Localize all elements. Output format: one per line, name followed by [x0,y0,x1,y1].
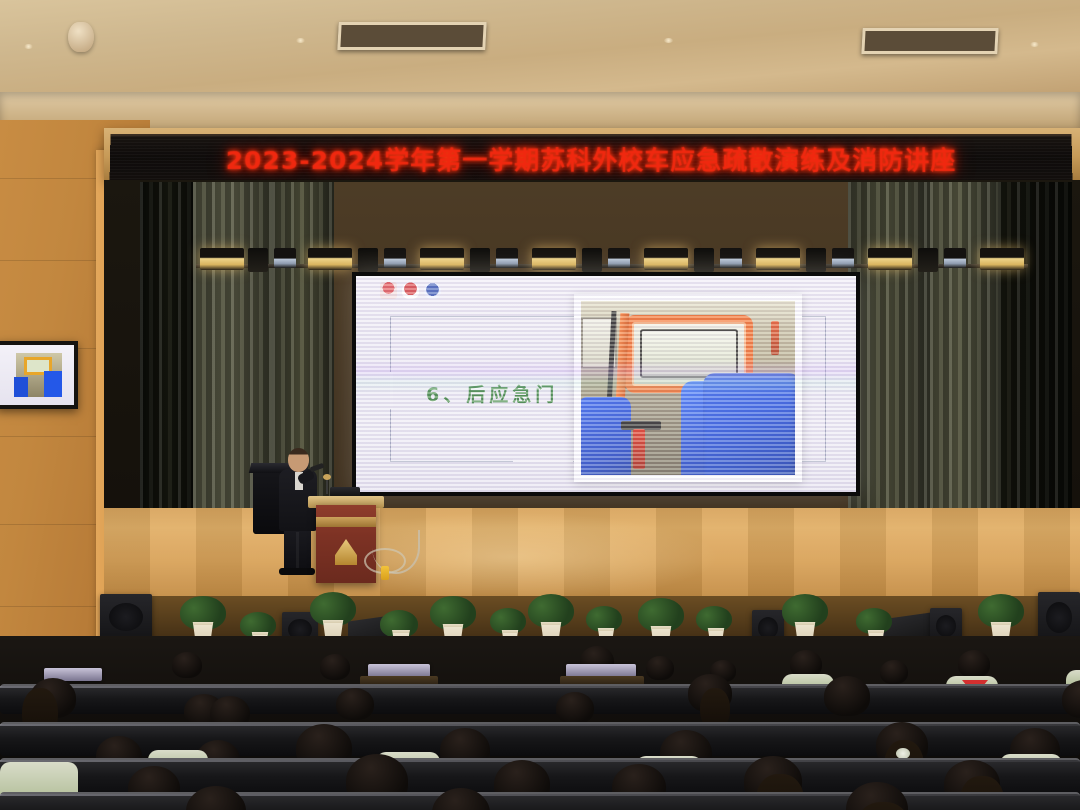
school-badge-blue-icon [424,282,441,299]
downlight-icon [664,38,673,43]
bus-seat [581,397,631,475]
student-head [646,656,674,680]
school-badge-icon [380,282,397,299]
audience-area [0,636,1080,810]
fire-extinguisher-icon [771,321,779,355]
podium-mic-stand [326,478,328,494]
student-head [556,692,594,724]
seat-row[interactable] [0,792,1080,810]
fire-extinguisher-icon [633,429,645,469]
slide-heading: 6、后应急门 [426,380,558,407]
school-crest-icon [402,282,419,299]
projection-screen: 6、后应急门 [352,272,860,496]
student-head [172,652,202,678]
presenter [276,448,320,576]
seat-row[interactable] [0,684,1080,714]
downlight-icon [296,38,305,43]
ceiling-vent [337,22,486,50]
student-head [958,650,990,678]
side-wall-monitor [0,341,78,409]
school-emblem-icon [335,539,357,565]
ceiling [0,0,1080,128]
student-head [336,688,374,720]
ceiling-vent [861,28,998,54]
led-banner-text: 2023-2024学年第一学期苏科外校车应急疏散演练及消防讲座 [225,141,956,177]
student-head [880,660,908,684]
led-banner: 2023-2024学年第一学期苏科外校车应急疏散演练及消防讲座 [110,134,1073,184]
student-head [824,676,870,716]
auditorium-scene: 2023-2024学年第一学期苏科外校车应急疏散演练及消防讲座 [0,0,1080,810]
slide-logos [380,282,441,299]
student-head [320,654,350,680]
downlight-icon [1030,42,1039,47]
podium [316,505,376,583]
bus-seat [703,373,795,475]
downlight-icon [24,44,33,49]
slide-photo-bus-emergency-door [574,294,802,482]
water-bottle [381,566,389,580]
ceiling-fixture [68,22,94,52]
